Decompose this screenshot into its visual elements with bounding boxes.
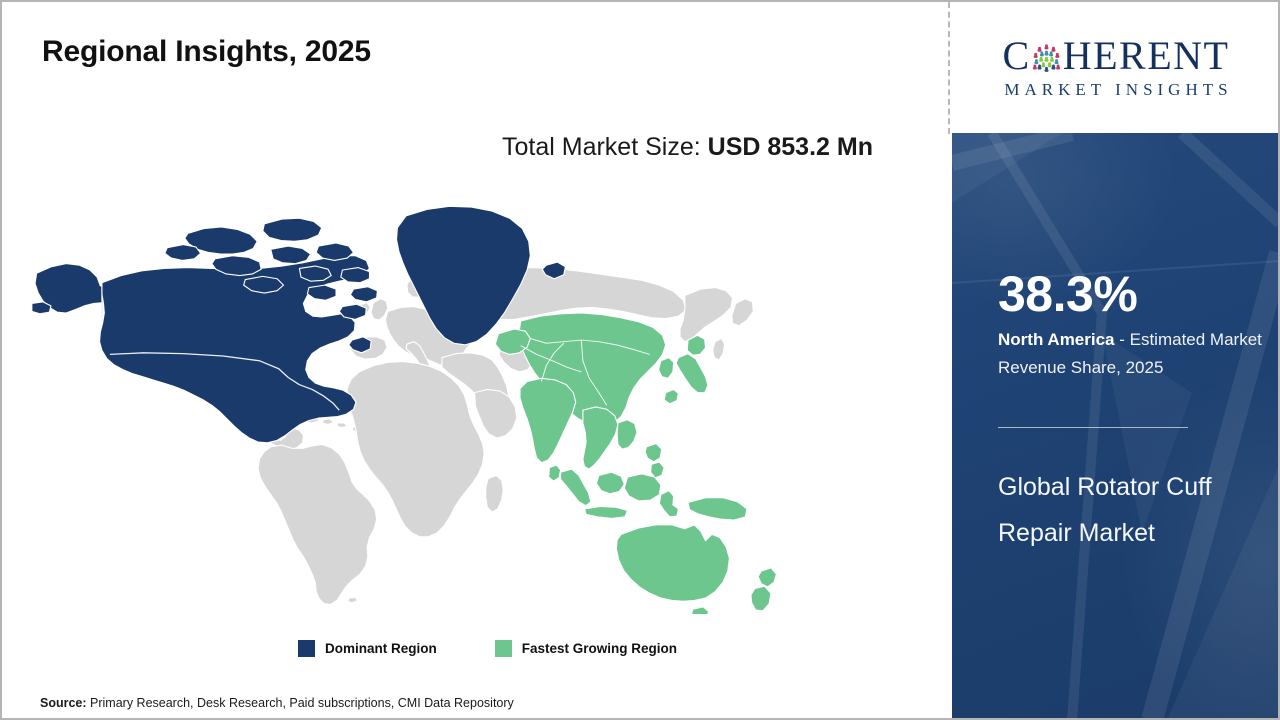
infographic-canvas: Regional Insights, 2025 Total Market Siz… bbox=[0, 0, 1280, 720]
brand-logo: C HERENT MARKET INSIGHTS bbox=[952, 2, 1280, 133]
vertical-dashed-divider bbox=[948, 2, 950, 134]
highlight-panel: 38.3% North America - Estimated Market R… bbox=[952, 133, 1280, 720]
logo-letter-c: C bbox=[1003, 36, 1031, 76]
world-map bbox=[30, 184, 830, 614]
panel-content: 38.3% North America - Estimated Market R… bbox=[998, 133, 1264, 720]
left-content-pane: Regional Insights, 2025 Total Market Siz… bbox=[2, 2, 950, 720]
stat-region-name: North America bbox=[998, 330, 1115, 349]
stat-value: 38.3% bbox=[998, 269, 1137, 319]
page-title: Regional Insights, 2025 bbox=[42, 35, 371, 69]
stat-description: North America - Estimated Market Revenue… bbox=[998, 326, 1262, 381]
square-swatch-icon-dominant bbox=[298, 640, 315, 657]
logo-text-herent: HERENT bbox=[1063, 36, 1230, 76]
market-size-value: USD 853.2 Mn bbox=[708, 133, 873, 161]
map-legend: Dominant Region Fastest Growing Region bbox=[298, 640, 677, 657]
source-label: Source: bbox=[40, 696, 87, 710]
legend-label-dominant: Dominant Region bbox=[325, 641, 437, 656]
globe-dots-icon bbox=[1031, 42, 1062, 73]
market-title: Global Rotator Cuff Repair Market bbox=[998, 465, 1248, 556]
logo-wordmark: C HERENT bbox=[1003, 36, 1230, 76]
legend-item-dominant: Dominant Region bbox=[298, 640, 437, 657]
world-map-svg bbox=[30, 184, 830, 614]
square-swatch-icon-fastest-growing bbox=[495, 640, 512, 657]
total-market-size: Total Market Size: USD 853.2 Mn bbox=[502, 128, 912, 167]
legend-item-fastest-growing: Fastest Growing Region bbox=[495, 640, 677, 657]
map-region-asia-pacific bbox=[495, 313, 776, 614]
panel-divider-rule bbox=[998, 427, 1188, 428]
source-note: Source: Primary Research, Desk Research,… bbox=[40, 696, 514, 710]
source-text: Primary Research, Desk Research, Paid su… bbox=[87, 696, 514, 710]
logo-subtitle: MARKET INSIGHTS bbox=[999, 80, 1232, 100]
legend-label-fastest-growing: Fastest Growing Region bbox=[522, 641, 677, 656]
market-size-label: Total Market Size: bbox=[502, 133, 701, 161]
